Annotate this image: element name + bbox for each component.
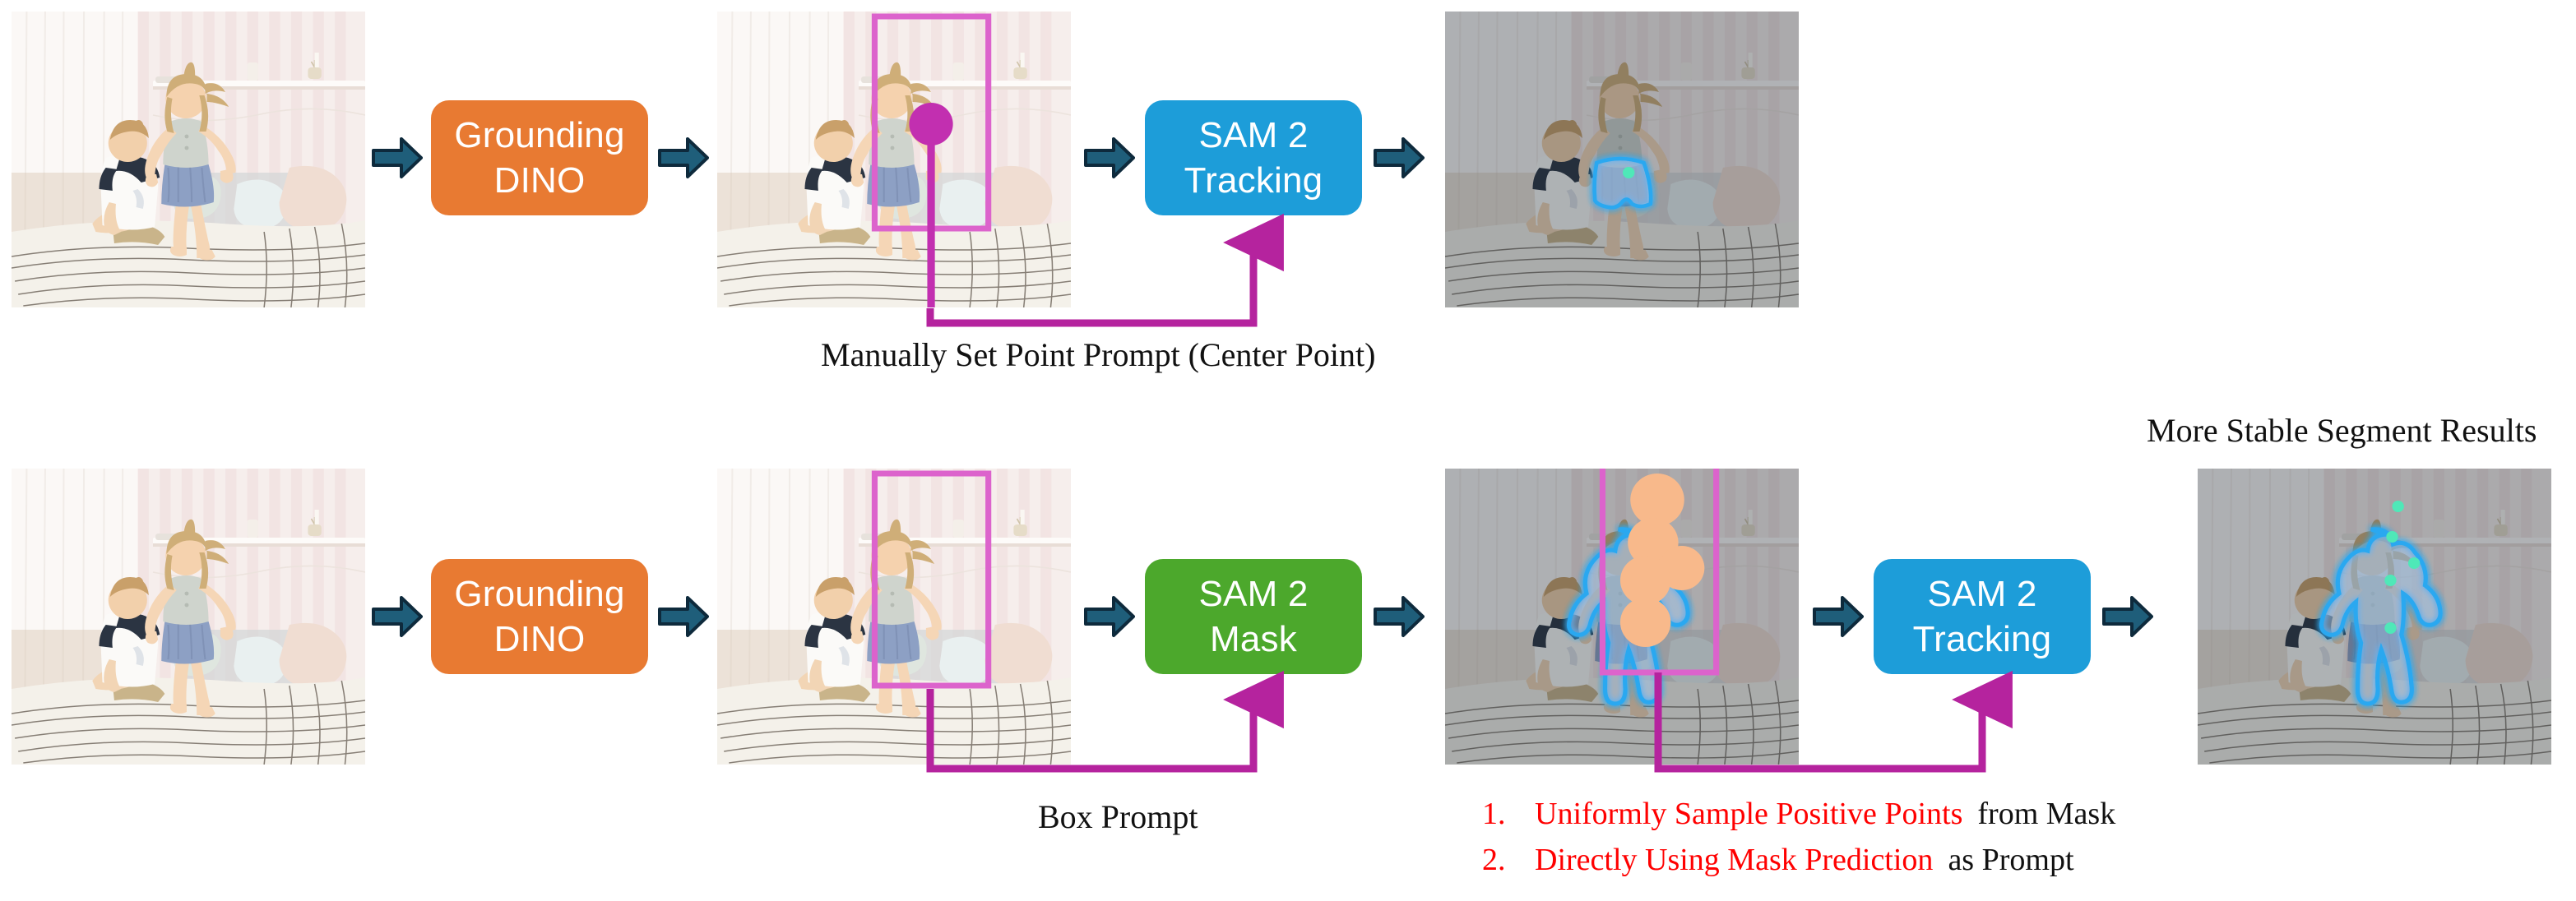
note-2-black: as Prompt bbox=[1948, 842, 2073, 878]
grounding-dino-box-2[interactable]: Grounding DINO bbox=[431, 559, 648, 674]
sam2-mask-line2: Mask bbox=[1210, 617, 1297, 662]
sam2-tracking-2-line2: Tracking bbox=[1913, 617, 2052, 662]
detected-box-frame-2 bbox=[717, 469, 1071, 765]
row1-caption: Manually Set Point Prompt (Center Point) bbox=[821, 335, 1375, 374]
detected-box-frame bbox=[717, 12, 1071, 307]
sam2-tracking-box[interactable]: SAM 2 Tracking bbox=[1145, 100, 1362, 215]
sam2-tracking-2-line1: SAM 2 bbox=[1927, 571, 2036, 617]
note-1-red: Uniformly Sample Positive Points bbox=[1535, 796, 1962, 832]
arrow-7 bbox=[1084, 595, 1135, 638]
mask-sample-frame bbox=[1445, 469, 1799, 765]
arrow-5 bbox=[372, 595, 423, 638]
grounding-dino-2-line1: Grounding bbox=[454, 571, 624, 617]
note-2-number: 2. bbox=[1482, 842, 1520, 878]
sam2-tracking-line2: Tracking bbox=[1184, 158, 1323, 203]
arrow-8 bbox=[1374, 595, 1425, 638]
note-item: 1. Uniformly Sample Positive Points from… bbox=[1482, 796, 2115, 832]
more-stable-results-note: More Stable Segment Results bbox=[2147, 411, 2537, 450]
input-frame bbox=[12, 12, 365, 307]
arrow-2 bbox=[658, 136, 709, 179]
sam2-tracking-box-2[interactable]: SAM 2 Tracking bbox=[1874, 559, 2091, 674]
note-1-black: from Mask bbox=[1977, 796, 2115, 832]
row2-notes: 1. Uniformly Sample Positive Points from… bbox=[1482, 796, 2115, 878]
final-result-frame bbox=[2198, 469, 2551, 765]
arrow-9 bbox=[1813, 595, 1864, 638]
input-frame-2 bbox=[12, 469, 365, 765]
sam2-mask-box[interactable]: SAM 2 Mask bbox=[1145, 559, 1362, 674]
arrow-10 bbox=[2102, 595, 2153, 638]
arrow-1 bbox=[372, 136, 423, 179]
arrow-4 bbox=[1374, 136, 1425, 179]
grounding-dino-line2: DINO bbox=[494, 158, 586, 203]
row2-caption: Box Prompt bbox=[1038, 797, 1198, 836]
arrow-3 bbox=[1084, 136, 1135, 179]
diagram-canvas: Grounding DINO SAM 2 Tracking bbox=[0, 0, 2576, 901]
note-item: 2. Directly Using Mask Prediction as Pro… bbox=[1482, 842, 2115, 878]
sam2-mask-line1: SAM 2 bbox=[1198, 571, 1308, 617]
grounding-dino-line1: Grounding bbox=[454, 113, 624, 158]
sam2-tracking-line1: SAM 2 bbox=[1198, 113, 1308, 158]
tracking-result-frame bbox=[1445, 12, 1799, 307]
grounding-dino-box[interactable]: Grounding DINO bbox=[431, 100, 648, 215]
grounding-dino-2-line2: DINO bbox=[494, 617, 586, 662]
note-2-red: Directly Using Mask Prediction bbox=[1535, 842, 1933, 878]
arrow-6 bbox=[658, 595, 709, 638]
note-1-number: 1. bbox=[1482, 796, 1520, 832]
